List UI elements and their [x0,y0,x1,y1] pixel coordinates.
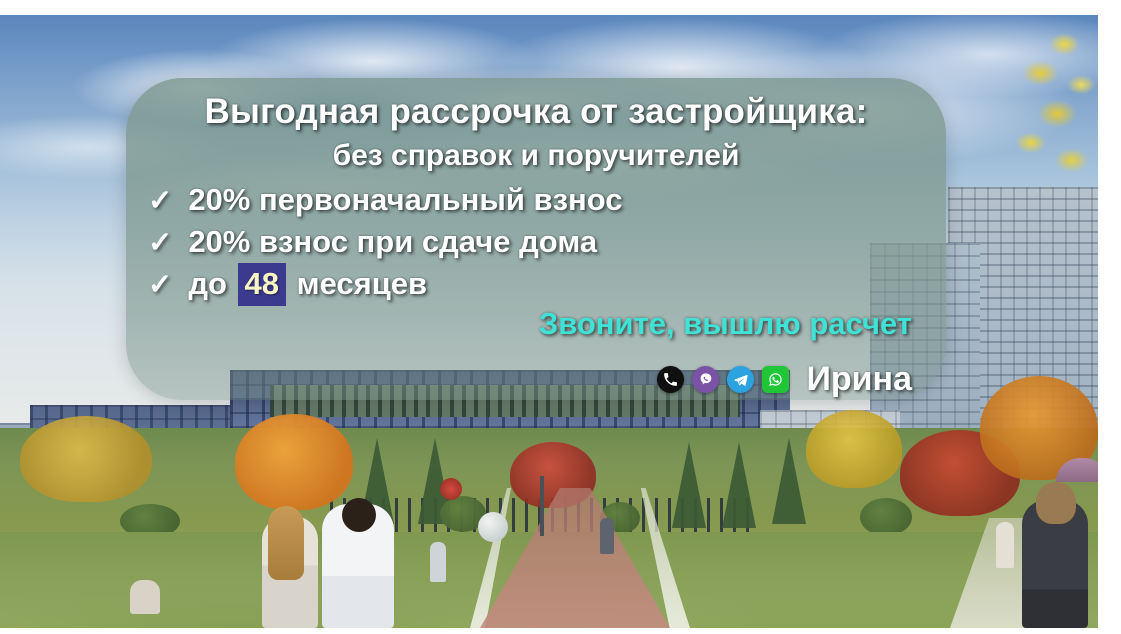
call-to-action-text: Звоните, вышлю расчет [539,306,912,342]
head-man-foreground [342,498,376,532]
bullet-3-prefix: до [188,266,235,301]
person-distant-left [130,580,160,614]
bullet-item-1: ✓ 20% первоначальный взнос [148,182,848,218]
phone-icon[interactable] [657,366,684,393]
checkmark-icon: ✓ [148,187,172,216]
bullet-text-3: до 48 месяцев [188,266,427,302]
promo-subheadline: без справок и поручителей [126,139,946,173]
bullet-text-2: 20% взнос при сдаче дома [188,224,597,260]
bullet-item-3: ✓ до 48 месяцев [148,266,848,302]
conifer-tree-4 [722,442,756,528]
contact-methods-row: Ирина [657,360,912,399]
tree-orange-left [235,414,353,510]
ad-banner: Выгодная рассрочка от застройщика: без с… [0,0,1121,634]
person-distant-center [430,542,446,582]
person-distant-path [600,518,614,554]
promo-content: Выгодная рассрочка от застройщика: без с… [126,78,946,400]
bullet-3-suffix: месяцев [288,266,427,301]
person-distant-right [996,522,1014,568]
bullet-text-1: 20% первоначальный взнос [188,182,622,218]
tree-yellow-left [20,416,152,502]
contact-name: Ирина [806,360,912,399]
checkmark-icon: ✓ [148,229,172,258]
head-person-backpack-right [1036,482,1076,524]
viber-icon[interactable] [692,366,719,393]
hair-woman-foreground [268,506,304,580]
bullet-item-2: ✓ 20% взнос при сдаче дома [148,224,848,260]
lamp-post [540,476,544,536]
shrub-3 [860,498,912,536]
tree-yellow-midright [806,410,902,488]
term-highlight-48: 48 [238,263,286,306]
conifer-tree-5 [772,438,806,524]
telegram-icon[interactable] [727,366,754,393]
conifer-tree-3 [672,442,706,528]
whatsapp-icon[interactable] [762,366,789,393]
promo-bullet-list: ✓ 20% первоначальный взнос ✓ 20% взнос п… [148,182,848,308]
checkmark-icon: ✓ [148,271,172,300]
globe-sculpture [478,512,508,542]
flower-bed-center [440,478,462,500]
promo-headline: Выгодная рассрочка от застройщика: [126,92,946,132]
